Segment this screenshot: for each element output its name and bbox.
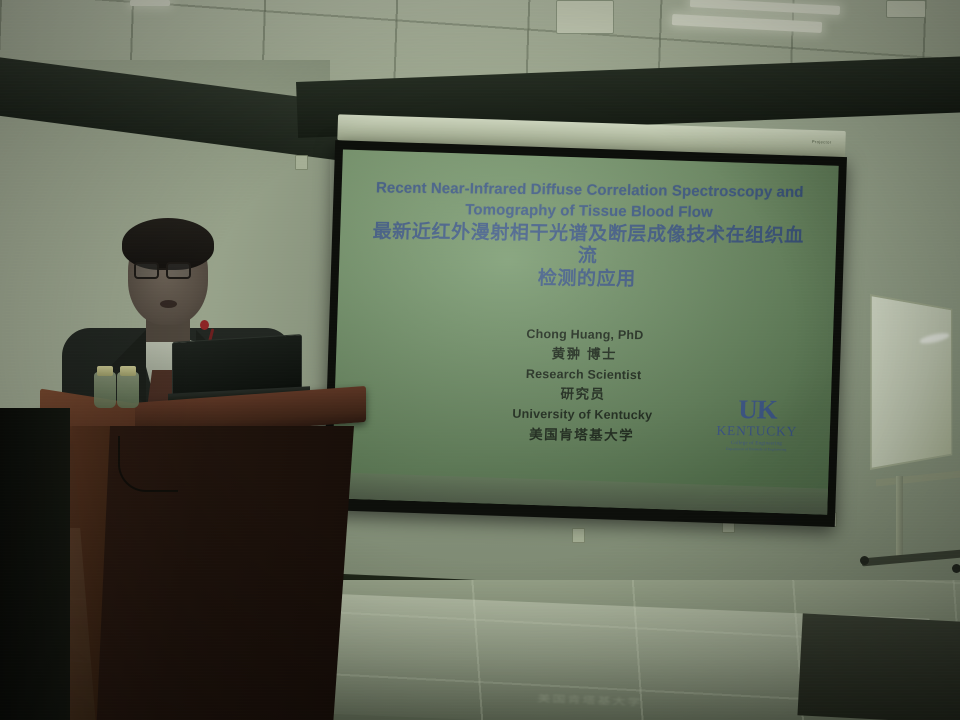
podium-cable <box>118 436 178 492</box>
projection-screen-frame: Recent Near-Infrared Diffuse Correlation… <box>323 140 847 527</box>
eyeglasses-bridge <box>159 268 167 270</box>
whiteboard-caster <box>860 556 869 565</box>
uk-college-line: College of Engineering <box>709 440 803 446</box>
water-bottle[interactable] <box>94 372 116 408</box>
whiteboard-surface[interactable] <box>870 294 952 470</box>
floor-shadow-right <box>797 613 960 720</box>
uk-state-wordmark: KENTUCKY <box>710 423 804 437</box>
whiteboard-caster <box>952 564 960 573</box>
slide-title-cn-line2: 检测的应用 <box>364 267 809 294</box>
ceiling-vent <box>886 0 926 18</box>
water-bottle[interactable] <box>117 372 139 408</box>
wall-outlet[interactable] <box>295 155 308 170</box>
projected-slide: Recent Near-Infrared Diffuse Correlation… <box>331 149 838 514</box>
uk-monogram: UK <box>710 395 805 423</box>
screen-brand-label: Projector <box>812 139 832 145</box>
whiteboard[interactable] <box>856 288 960 568</box>
podium-left-shadow <box>0 408 70 720</box>
lecture-hall-photo: 美国肯塔基大学 Projector Recent Near-Infrared D… <box>0 0 960 720</box>
whiteboard-base <box>862 550 960 567</box>
eyeglasses-left-lens <box>134 262 159 279</box>
whiteboard-marker-tray <box>876 469 960 487</box>
podium-and-speaker <box>0 200 380 720</box>
whiteboard-glare <box>919 331 950 345</box>
uk-department-line: Department of Biomedical Engineering <box>709 446 803 451</box>
whiteboard-post <box>896 476 903 558</box>
ceiling-vent <box>556 0 614 34</box>
water-bottle-cap[interactable] <box>97 366 113 376</box>
slide-title-cn-line1: 最新近红外漫射相干光谱及断层成像技术在组织血流 <box>365 221 811 270</box>
slide-content: Recent Near-Infrared Diffuse Correlation… <box>331 155 838 509</box>
uk-kentucky-logo: UK KENTUCKY College of Engineering Depar… <box>709 395 805 450</box>
eyeglasses-right-lens <box>166 262 191 279</box>
speaker-mouth <box>160 300 177 308</box>
projection-screen-assembly: Projector Recent Near-Infrared Diffuse C… <box>316 118 849 545</box>
water-bottle-cap[interactable] <box>120 366 136 376</box>
ceiling-light-fixture <box>130 0 170 6</box>
microphone-head <box>200 320 209 330</box>
